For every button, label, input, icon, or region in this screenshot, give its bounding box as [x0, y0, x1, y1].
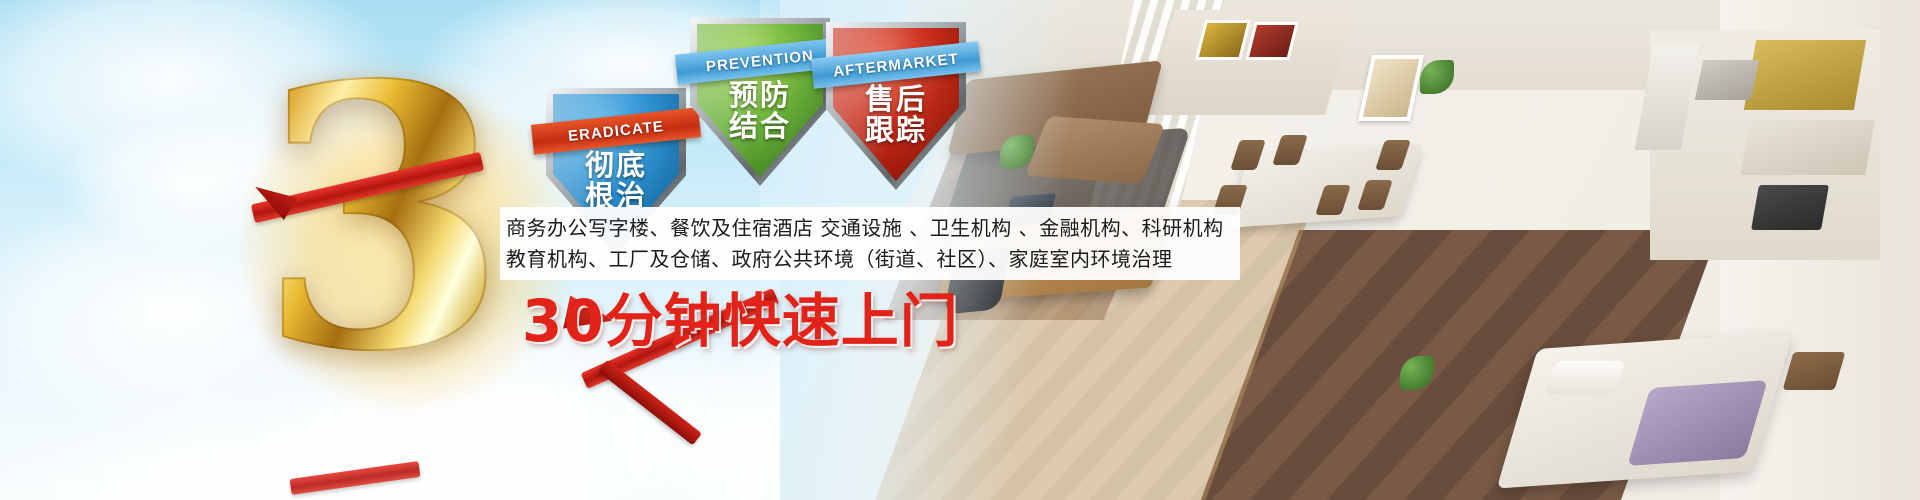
service-scope-panel: 商务办公写字楼、餐饮及住宿酒店 交通设施 、卫生机构 、金融机构、科研机构 教育…	[500, 207, 1240, 280]
shield-badge-aftermarket[interactable]: AFTERMARKET 售后 跟踪	[826, 22, 966, 190]
kitchen-cabinet	[1744, 40, 1866, 110]
red-ribbon	[290, 461, 421, 495]
range-hood	[1695, 60, 1760, 100]
shield-banner-label: ERADICATE	[567, 118, 665, 145]
headline-text: 30分钟快速上门	[522, 292, 959, 350]
shield-cn-line2: 结合	[690, 111, 830, 142]
hero-number: 3	[258, 39, 509, 399]
shield-cn-line1: 售后	[826, 84, 966, 115]
shield-banner-label: PREVENTION	[705, 47, 815, 75]
nightstand	[1783, 352, 1846, 390]
shield-cn-line1: 彻底	[546, 150, 686, 181]
kitchen-counter	[1740, 120, 1875, 175]
shield-badge-prevention[interactable]: PREVENTION 预防 结合	[690, 18, 830, 186]
service-scope-line-1: 商务办公写字楼、餐饮及住宿酒店 交通设施 、卫生机构 、金融机构、科研机构	[506, 213, 1240, 244]
oven	[1751, 185, 1829, 230]
shield-chinese-text: 预防 结合	[690, 80, 830, 143]
shield-cn-line1: 预防	[690, 80, 830, 111]
service-scope-line-2: 教育机构、工厂及仓储、政府公共环境（街道、社区）、家庭室内环境治理	[506, 244, 1240, 275]
promo-banner: 3 ERADICATE 彻底 根治 PREVENTION 预防 结合	[0, 0, 1920, 500]
red-ribbon-tail	[598, 360, 702, 446]
shield-chinese-text: 彻底 根治	[546, 150, 686, 213]
tv-wall	[1145, 10, 1355, 115]
shield-cn-line2: 跟踪	[826, 115, 966, 146]
shield-chinese-text: 售后 跟踪	[826, 84, 966, 147]
pillow	[1544, 361, 1626, 395]
